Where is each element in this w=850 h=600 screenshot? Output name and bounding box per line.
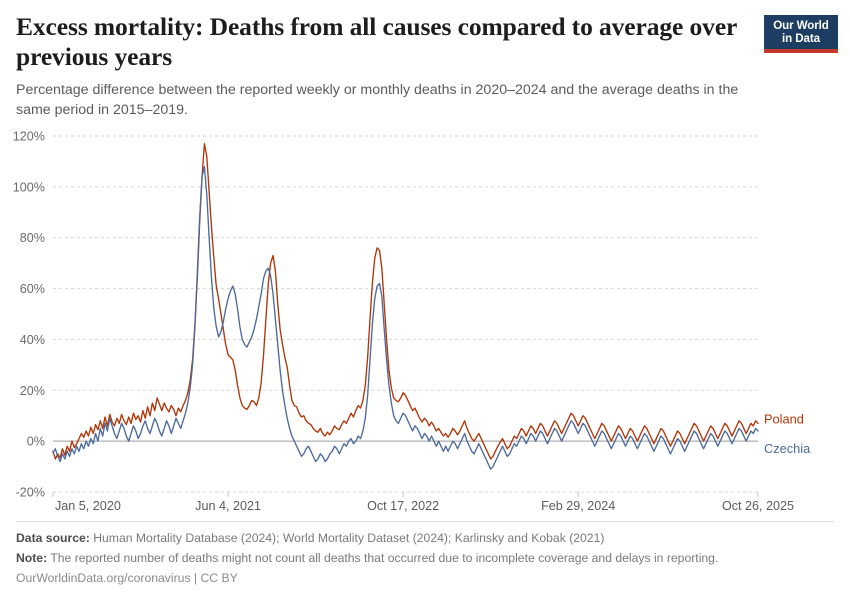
y-axis-tick-label: 80% — [20, 231, 45, 245]
y-axis-tick-label: -20% — [16, 486, 45, 500]
note-text: The reported number of deaths might not … — [50, 551, 718, 565]
chart-header: Excess mortality: Deaths from all causes… — [16, 12, 756, 120]
x-axis-tick-label: Jan 5, 2020 — [55, 499, 121, 513]
chart-footer: Data source: Human Mortality Database (2… — [16, 521, 834, 588]
chart-page: Excess mortality: Deaths from all causes… — [0, 0, 850, 600]
series-line-czechia[interactable] — [53, 167, 758, 470]
y-axis-tick-label: 60% — [20, 282, 45, 296]
data-source-text: Human Mortality Database (2024); World M… — [93, 531, 604, 545]
y-axis-tick-label: 20% — [20, 384, 45, 398]
chart-canvas[interactable]: -20%0%20%40%60%80%100%120% Jan 5, 2020Ju… — [0, 118, 850, 518]
our-world-in-data-logo[interactable]: Our World in Data — [764, 15, 838, 53]
series-lines[interactable] — [53, 144, 758, 469]
y-axis-tick-label: 120% — [13, 130, 45, 144]
series-label-poland[interactable]: Poland — [764, 412, 804, 427]
y-axis-labels: -20%0%20%40%60%80%100%120% — [13, 130, 45, 500]
y-axis-tick-label: 40% — [20, 333, 45, 347]
x-axis-tick-label: Jun 4, 2021 — [195, 499, 261, 513]
series-label-czechia[interactable]: Czechia — [764, 441, 811, 456]
chart-subtitle: Percentage difference between the report… — [16, 81, 756, 120]
data-source-label: Data source: — [16, 531, 90, 545]
data-source-line: Data source: Human Mortality Database (2… — [16, 529, 834, 549]
footer-link[interactable]: OurWorldinData.org/coronavirus | CC BY — [16, 569, 834, 589]
x-axis-tick-label: Oct 26, 2025 — [722, 499, 794, 513]
x-axis-tick-label: Feb 29, 2024 — [541, 499, 615, 513]
series-line-poland[interactable] — [53, 144, 758, 459]
series-labels[interactable]: PolandCzechia — [764, 412, 811, 456]
x-axis-labels: Jan 5, 2020Jun 4, 2021Oct 17, 2022Feb 29… — [53, 492, 794, 513]
logo-line-2: in Data — [764, 32, 838, 45]
page-title: Excess mortality: Deaths from all causes… — [16, 12, 756, 72]
note-line: Note: The reported number of deaths migh… — [16, 549, 834, 569]
y-axis-tick-label: 100% — [13, 180, 45, 194]
y-axis-tick-label: 0% — [27, 435, 45, 449]
logo-line-1: Our World — [764, 19, 838, 32]
note-label: Note: — [16, 551, 47, 565]
x-axis-tick-label: Oct 17, 2022 — [367, 499, 439, 513]
line-chart[interactable]: -20%0%20%40%60%80%100%120% Jan 5, 2020Ju… — [0, 118, 850, 518]
